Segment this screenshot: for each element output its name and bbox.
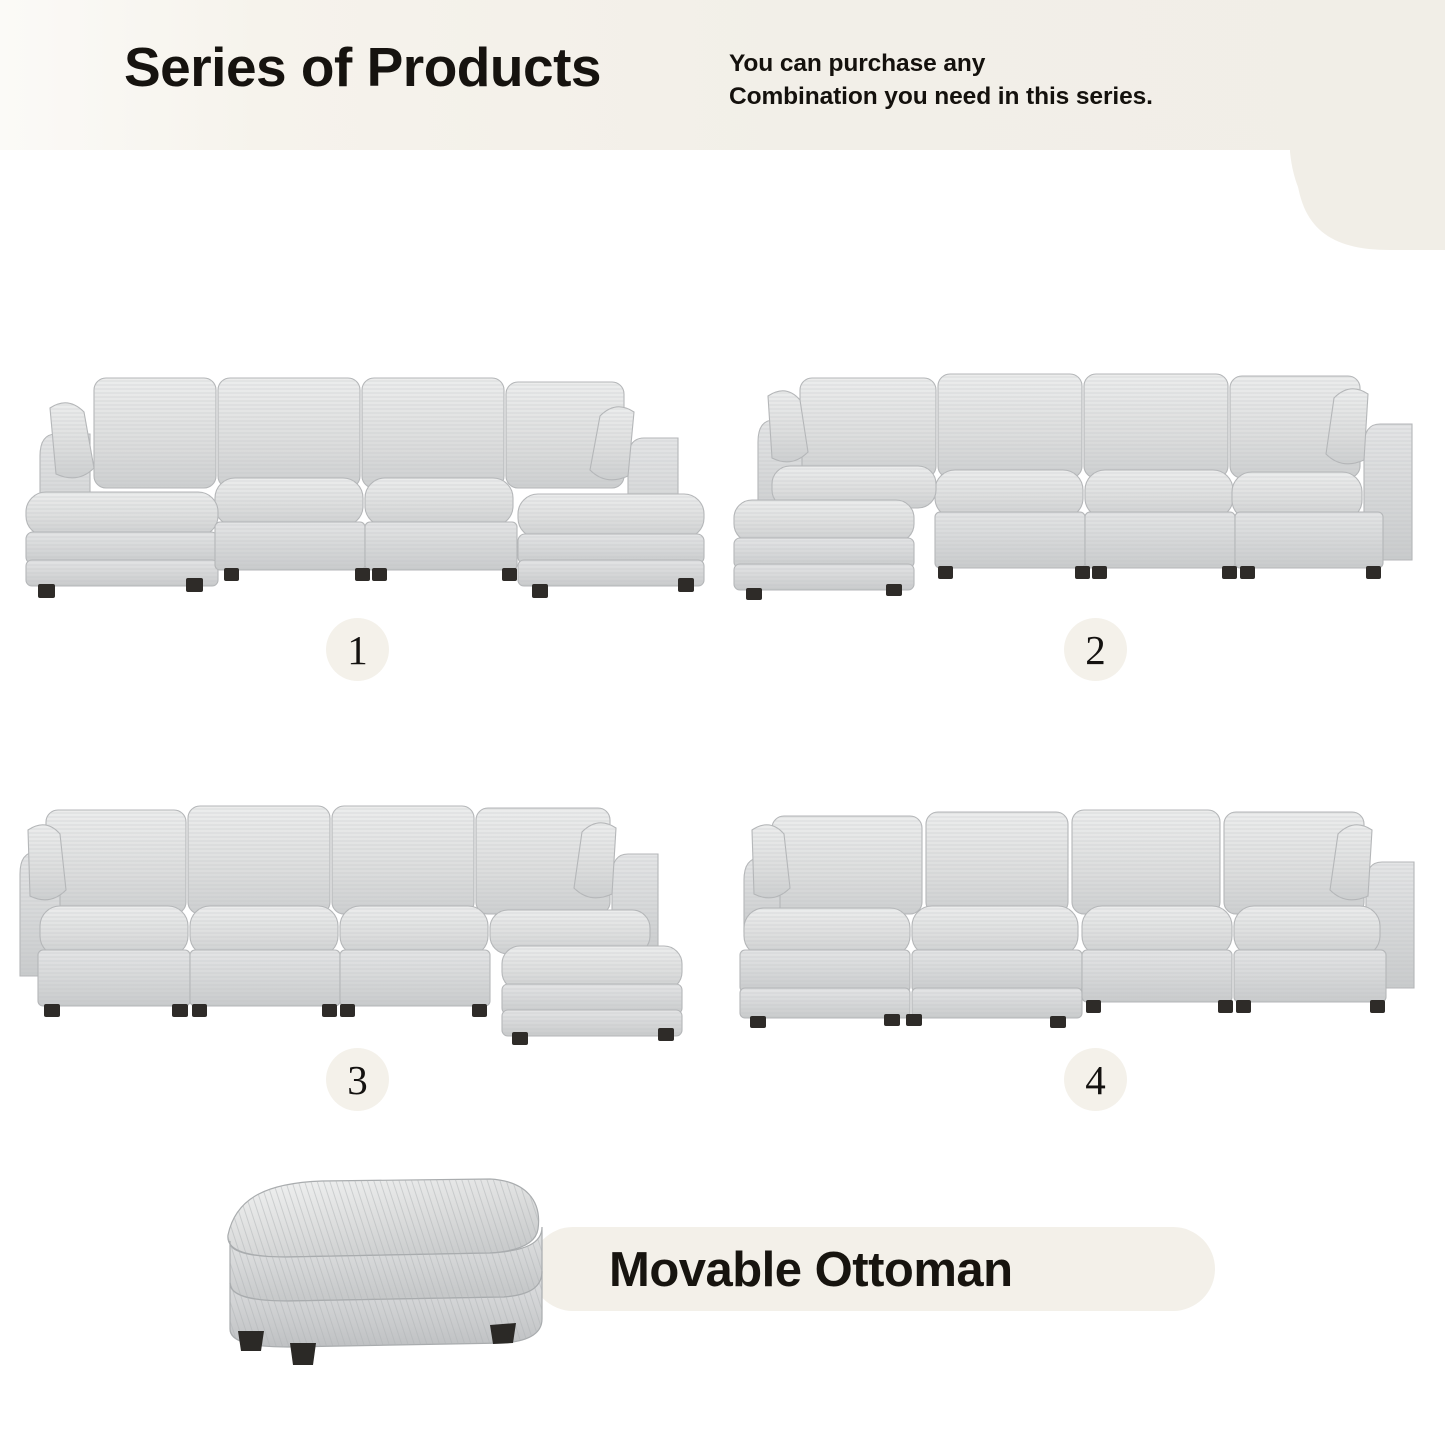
sofa-configuration-1-image <box>10 360 710 600</box>
badge-1: 1 <box>326 618 389 681</box>
sofa-configuration-3-image <box>10 788 710 1038</box>
header-subtitle: You can purchase any Combination you nee… <box>729 48 1153 113</box>
product-2[interactable] <box>730 360 1430 600</box>
movable-ottoman-product[interactable] <box>190 1175 580 1390</box>
sofa-configuration-2-image <box>730 360 1430 600</box>
header-subtitle-line-2: Combination you need in this series. <box>729 81 1153 114</box>
header-subtitle-line-1: You can purchase any <box>729 48 1153 81</box>
header-band-shape <box>0 0 1445 250</box>
badge-3: 3 <box>326 1048 389 1111</box>
badge-2: 2 <box>1064 618 1127 681</box>
header-band: Series of Products You can purchase any … <box>0 0 1445 250</box>
sofa-configuration-4-image <box>730 788 1430 1028</box>
product-4[interactable] <box>730 788 1430 1028</box>
badge-4: 4 <box>1064 1048 1127 1111</box>
infographic-page: Series of Products You can purchase any … <box>0 0 1445 1445</box>
product-3[interactable] <box>10 788 710 1038</box>
movable-ottoman-image <box>190 1175 580 1390</box>
product-1[interactable] <box>10 360 710 600</box>
movable-ottoman-label: Movable Ottoman <box>609 1238 1169 1302</box>
page-title: Series of Products <box>124 37 601 98</box>
